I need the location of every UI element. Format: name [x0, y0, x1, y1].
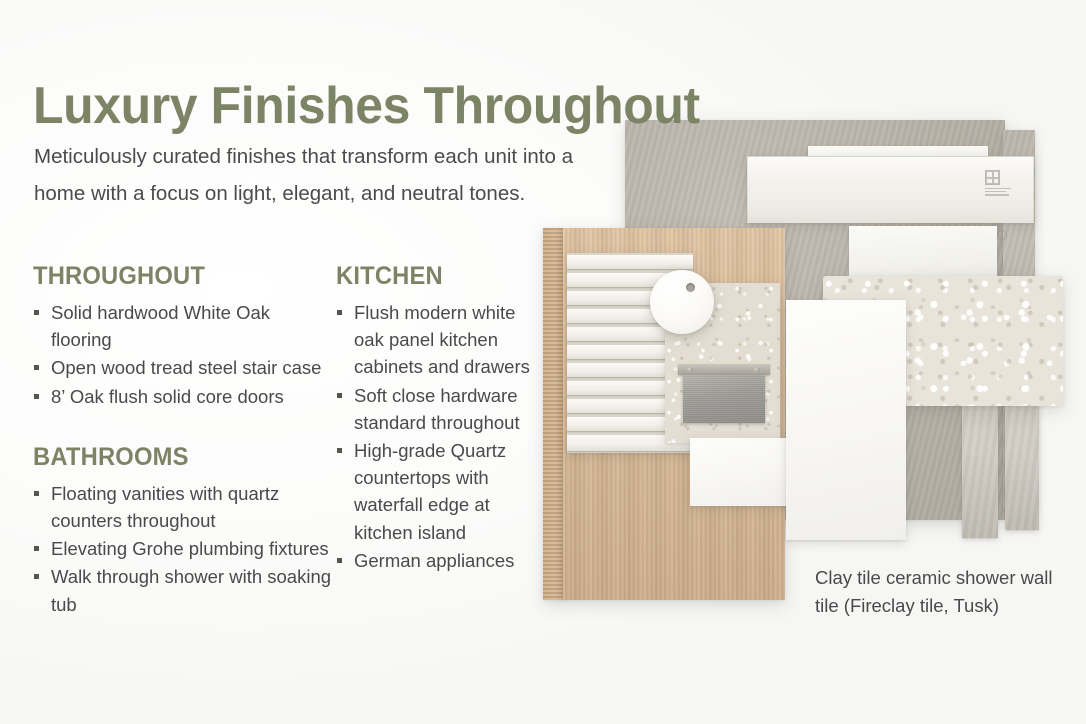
tile-slat [567, 327, 693, 341]
tile-slat [567, 309, 693, 323]
tile-slat [567, 381, 693, 395]
column-right: KITCHEN Flush modern white oak panel kit… [336, 262, 546, 575]
sample-brushed-steel-plate [683, 375, 765, 423]
sample-slatted-tile-stack [567, 253, 693, 453]
section-heading-bathrooms: BATHROOMS [33, 443, 318, 472]
sample-matte-white-tile-lower [849, 226, 997, 286]
page-title: Luxury Finishes Throughout [33, 79, 667, 133]
sample-round-disc-tag [650, 270, 714, 334]
sample-gray-tile-strip-right [1005, 400, 1039, 530]
tile-slat [567, 273, 693, 287]
stamp-lines-icon [985, 188, 1021, 196]
tile-slat [567, 363, 693, 377]
sample-steel-plate-rail [678, 364, 770, 375]
sample-white-paint-chip-lower [786, 300, 906, 540]
section-heading-kitchen: KITCHEN [336, 262, 536, 291]
sample-gloss-white-subway-tile [747, 156, 1034, 223]
sample-gray-tile-strip-inner [962, 400, 998, 538]
column-left: THROUGHOUT Solid hardwood White Oak floo… [33, 262, 333, 619]
stamp-dot-icon [997, 230, 1007, 240]
stamp-grid-icon [985, 170, 1000, 185]
tile-slat [567, 399, 693, 413]
sample-terrazzo-stone-slab [823, 276, 1063, 406]
sample-white-oak-panel [563, 228, 785, 600]
section-heading-throughout: THROUGHOUT [33, 262, 318, 291]
list-item: Floating vanities with quartz counters t… [33, 480, 333, 534]
sample-white-oak-panel-edge [543, 228, 565, 600]
list-item: 8’ Oak flush solid core doors [33, 383, 333, 410]
tile-slat [567, 435, 693, 451]
sample-concrete-backdrop-board [625, 120, 1005, 520]
list-item: Elevating Grohe plumbing fixtures [33, 535, 333, 562]
tile-slat [567, 345, 693, 359]
collage-caption: Clay tile ceramic shower wall tile (Fire… [815, 564, 1065, 620]
tile-slat [567, 291, 693, 305]
tile-slat [567, 255, 693, 269]
tile-slat [567, 417, 693, 431]
page-subtitle: Meticulously curated finishes that trans… [34, 138, 594, 214]
sample-matte-white-tile-upper [808, 146, 988, 196]
list-item: Flush modern white oak panel kitchen cab… [336, 299, 546, 381]
sample-concrete-right-board [1003, 130, 1035, 510]
list-item: High-grade Quartz countertops with water… [336, 437, 546, 546]
disc-tag-hole-icon [686, 283, 695, 292]
steel-screw-icon [686, 367, 693, 372]
list-item: Solid hardwood White Oak flooring [33, 299, 333, 353]
section-list-throughout: Solid hardwood White Oak flooring Open w… [33, 299, 333, 410]
list-item: Soft close hardware standard throughout [336, 382, 546, 436]
tile-brand-stamp-icon [985, 170, 1021, 214]
list-item: Walk through shower with soaking tub [33, 563, 333, 617]
list-item: German appliances [336, 547, 546, 574]
section-list-kitchen: Flush modern white oak panel kitchen cab… [336, 299, 546, 574]
steel-screw-icon [753, 367, 760, 372]
slide-canvas: Luxury Finishes Throughout Meticulously … [0, 0, 1086, 724]
sample-quartz-countertop [665, 283, 780, 443]
list-item: Open wood tread steel stair case [33, 354, 333, 381]
section-list-bathrooms: Floating vanities with quartz counters t… [33, 480, 333, 618]
sample-white-paint-chip [690, 438, 815, 506]
